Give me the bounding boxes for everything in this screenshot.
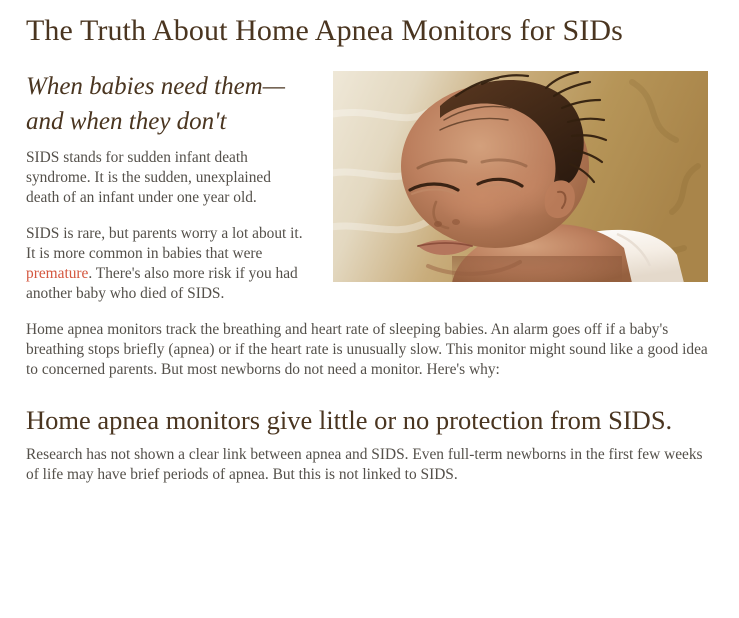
article-deck: When babies need them—and when they don'… [26, 69, 326, 140]
page-title: The Truth About Home Apnea Monitors for … [26, 12, 709, 51]
premature-link[interactable]: premature [26, 265, 88, 282]
paragraph-text-before-link: SIDS is rare, but parents worry a lot ab… [26, 225, 303, 262]
article-page: The Truth About Home Apnea Monitors for … [0, 0, 739, 618]
paragraph-apnea-monitors: Home apnea monitors track the breathing … [26, 320, 709, 380]
section-heading-protection: Home apnea monitors give little or no pr… [26, 403, 709, 438]
article-photo [332, 70, 709, 283]
paragraph-research: Research has not shown a clear link betw… [26, 445, 709, 485]
sleeping-baby-photo [332, 70, 709, 283]
